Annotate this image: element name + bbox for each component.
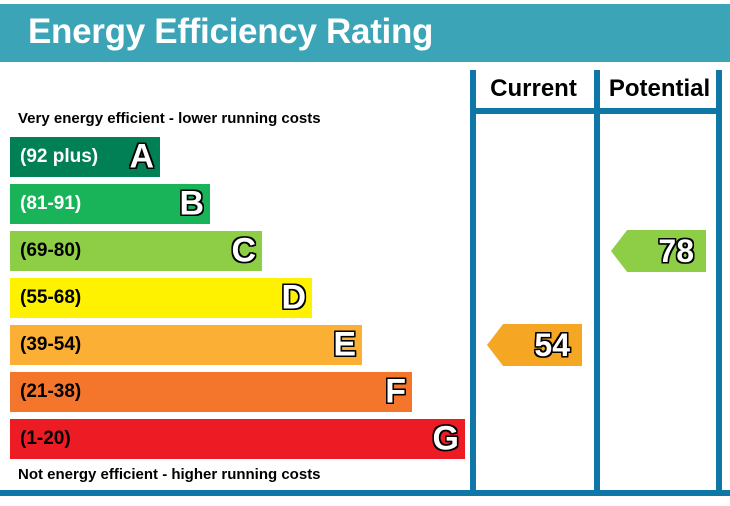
band-letter-c: C [231,233,256,267]
band-range-b: (81-91) [20,193,81,215]
rating-band-c: (69-80)C [10,231,262,271]
band-range-g: (1-20) [20,428,71,450]
band-letter-e: E [333,327,356,361]
column-header-current: Current [470,74,597,104]
divider-middle [594,70,600,490]
divider-right [716,70,722,490]
rating-arrow-potential: 78 [611,230,706,272]
rating-band-f: (21-38)F [10,372,412,412]
band-letter-a: A [129,139,154,173]
column-header-potential: Potential [597,74,722,104]
rating-band-e: (39-54)E [10,325,362,365]
band-range-d: (55-68) [20,287,81,309]
band-letter-g: G [433,421,459,455]
rating-value-current: 54 [534,329,570,361]
band-range-f: (21-38) [20,381,81,403]
band-range-a: (92 plus) [20,146,98,168]
band-letter-f: F [385,374,406,408]
page-title: Energy Efficiency Rating [28,12,433,52]
rating-band-b: (81-91)B [10,184,210,224]
divider-header-underline [470,108,722,114]
chart-header-band: Energy Efficiency Rating [0,4,730,62]
rating-band-g: (1-20)G [10,419,465,459]
caption-efficient: Very energy efficient - lower running co… [18,110,321,127]
band-range-c: (69-80) [20,240,81,262]
energy-efficiency-rating-chart: Energy Efficiency Rating Current Potenti… [0,0,730,506]
caption-inefficient: Not energy efficient - higher running co… [18,466,321,483]
divider-bottom [0,490,730,496]
rating-band-d: (55-68)D [10,278,312,318]
rating-value-potential: 78 [658,235,694,267]
band-letter-d: D [281,280,306,314]
divider-left [470,70,476,490]
rating-band-a: (92 plus)A [10,137,160,177]
band-letter-b: B [179,186,204,220]
rating-arrow-current: 54 [487,324,582,366]
band-range-e: (39-54) [20,334,81,356]
